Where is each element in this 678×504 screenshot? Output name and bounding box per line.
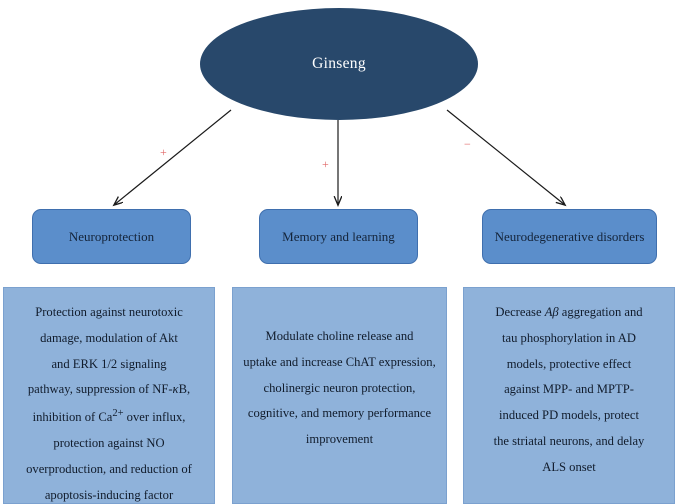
category-label-memory-and-learning: Memory and learning [274, 229, 403, 245]
category-label-neurodegenerative-disorders: Neurodegenerative disorders [487, 229, 653, 245]
arrow-to-neuroprotection [114, 110, 231, 205]
detail-text-neuroprotection: Protection against neurotoxicdamage, mod… [14, 300, 204, 504]
arrow-to-neurodegenerative-disorders [447, 110, 565, 205]
detail-box-neuroprotection: Protection against neurotoxicdamage, mod… [3, 287, 215, 504]
category-box-neurodegenerative-disorders: Neurodegenerative disorders [482, 209, 657, 264]
category-box-neuroprotection: Neuroprotection [32, 209, 191, 264]
edge-sign-neuroprotection: + [160, 146, 167, 158]
detail-text-memory-and-learning: Modulate choline release anduptake and i… [243, 324, 436, 467]
category-label-neuroprotection: Neuroprotection [61, 229, 162, 245]
edge-sign-neurodegenerative-disorders: − [464, 138, 471, 150]
detail-box-neurodegenerative-disorders: Decrease Aβ aggregation andtau phosphory… [463, 287, 675, 504]
detail-text-neurodegenerative-disorders: Decrease Aβ aggregation andtau phosphory… [474, 300, 664, 481]
diagram-canvas: Ginseng + + − Neuroprotection Memory and… [0, 0, 678, 504]
category-box-memory-and-learning: Memory and learning [259, 209, 418, 264]
root-node-ginseng: Ginseng [200, 8, 478, 120]
edge-sign-memory-and-learning: + [322, 158, 329, 170]
detail-box-memory-and-learning: Modulate choline release anduptake and i… [232, 287, 447, 504]
root-node-label: Ginseng [312, 55, 366, 73]
